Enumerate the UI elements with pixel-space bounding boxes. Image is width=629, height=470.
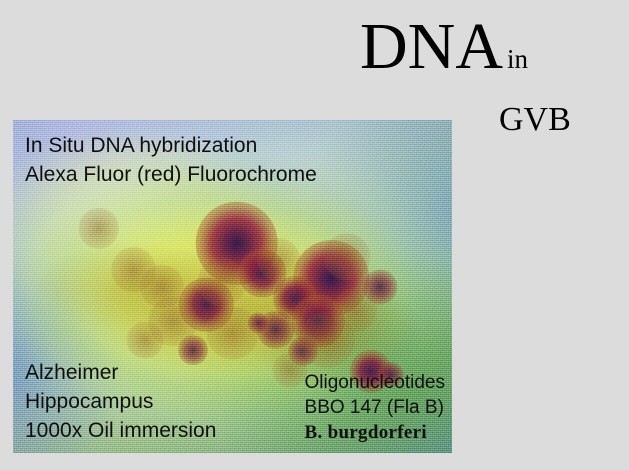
title-preposition: in xyxy=(507,44,528,74)
caption-probe: Oligonucleotides BBO 147 (Fla B) B. burg… xyxy=(305,370,445,445)
caption-specimen-line-3: 1000x Oil immersion xyxy=(25,416,216,445)
caption-organism-name: B. burgdorferi xyxy=(305,420,445,445)
caption-probe-line-1: Oligonucleotides xyxy=(305,370,445,395)
caption-specimen-line-2: Hippocampus xyxy=(25,387,216,416)
caption-specimen: Alzheimer Hippocampus 1000x Oil immersio… xyxy=(25,358,216,445)
caption-technique: In Situ DNA hybridization Alexa Fluor (r… xyxy=(25,131,317,189)
caption-probe-line-2: BBO 147 (Fla B) xyxy=(305,395,445,420)
title-line-primary: DNAin xyxy=(360,14,528,80)
caption-specimen-line-1: Alzheimer xyxy=(25,358,216,387)
caption-technique-line-1: In Situ DNA hybridization xyxy=(25,131,317,160)
page-title: DNA xyxy=(360,10,503,83)
caption-technique-line-2: Alexa Fluor (red) Fluorochrome xyxy=(25,160,317,189)
title-line-secondary: GVB xyxy=(499,103,571,137)
fluorescence-micrograph: In Situ DNA hybridization Alexa Fluor (r… xyxy=(13,120,452,453)
